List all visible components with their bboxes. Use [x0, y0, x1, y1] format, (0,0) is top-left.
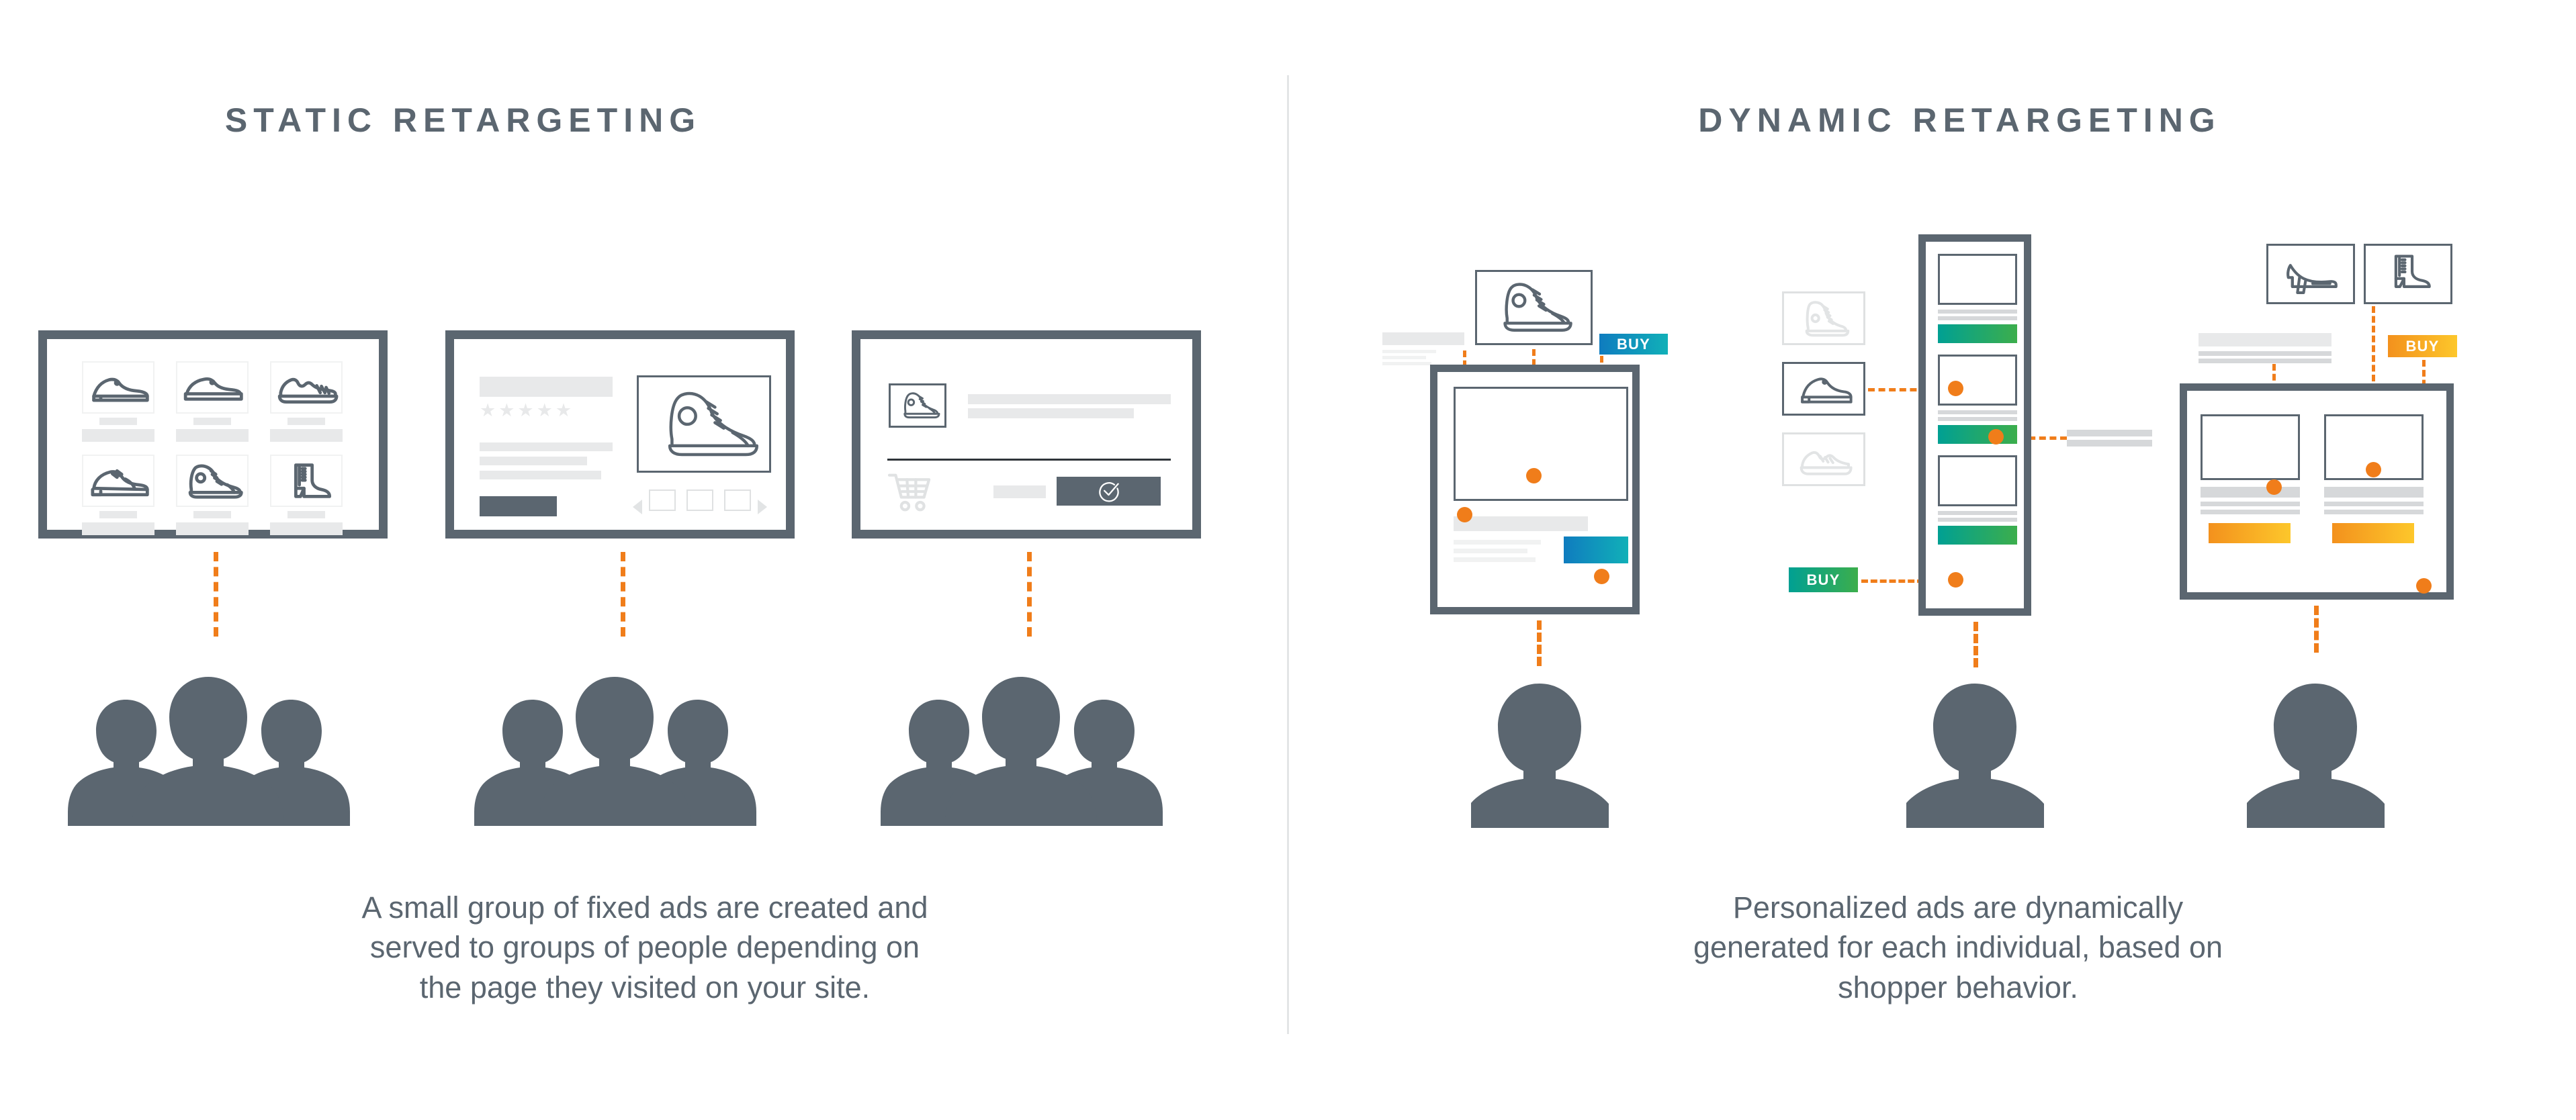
static-screen-category-listing[interactable]: [38, 330, 388, 539]
running-sneaker-icon: [1784, 434, 1863, 484]
checkout-button[interactable]: [1057, 477, 1161, 506]
carousel-next-button[interactable]: [758, 500, 767, 514]
dyn1-dot-copy: [1457, 507, 1472, 522]
dyn2-component-buy-button[interactable]: BUY: [1789, 567, 1858, 592]
ad-card-line: [2324, 510, 2424, 514]
ankle-boot-heel-icon: [2366, 246, 2450, 302]
dyn1-component-copy-block: [1382, 332, 1476, 365]
dyn3-component-image-2[interactable]: [2364, 244, 2452, 304]
product-card[interactable]: [176, 361, 249, 442]
infographic-canvas: STATIC RETARGETING DYNAMIC RETARGETING: [0, 0, 2576, 1120]
panel-divider: [1287, 75, 1289, 1034]
audience-group-1: [64, 671, 353, 826]
product-thumbnail: [176, 361, 249, 414]
carousel-prev-button[interactable]: [633, 500, 642, 514]
product-thumbnail: [82, 361, 154, 414]
lace-up-boot-icon: [1784, 293, 1863, 343]
product-price-placeholder: [270, 522, 343, 535]
ad-card-buy-slot[interactable]: [2332, 523, 2414, 543]
high-top-sneaker-icon: [177, 456, 247, 506]
ad-card-image-slot: [1938, 455, 2017, 506]
dyn2-component-image-inactive-2[interactable]: [1782, 432, 1865, 486]
product-title-placeholder: [480, 377, 613, 397]
ad-card-line: [2201, 510, 2300, 514]
ad-card-buy-slot[interactable]: [1938, 526, 2017, 545]
caption-line: the page they visited on your site.: [148, 968, 1142, 1007]
ad-card-buy-slot[interactable]: [1938, 425, 2017, 444]
buy-label: BUY: [2388, 335, 2457, 357]
cart-separator: [887, 459, 1171, 461]
copy-body-line: [1382, 356, 1426, 359]
three-people-group-icon: [64, 671, 353, 826]
dyn2-shopper: [1906, 677, 2044, 828]
product-name-placeholder: [287, 418, 325, 425]
buy-label: BUY: [1599, 334, 1668, 355]
ad-card-headline-slot: [2201, 487, 2300, 498]
ad-buy-slot[interactable]: [1564, 536, 1628, 563]
ad-headline-slot: [1454, 516, 1588, 531]
cart-line-item-thumbnail: [889, 383, 946, 428]
dyn2-connector-to-shopper: [1973, 622, 1978, 667]
ad-card-line: [2201, 502, 2300, 506]
copy-body-line: [1382, 362, 1431, 365]
dyn3-dot-image: [2366, 462, 2381, 477]
dyn3-dot-buy: [2416, 578, 2432, 594]
product-price-placeholder: [176, 429, 249, 442]
dyn1-component-product-image[interactable]: [1475, 270, 1593, 345]
single-person-icon: [2247, 677, 2385, 828]
dyn3-dot-copy: [2266, 479, 2282, 495]
dyn2-connector-buy: [1861, 579, 1924, 583]
loafer-shoe-icon: [177, 363, 247, 412]
cart-item-name-placeholder: [968, 394, 1171, 404]
carousel-thumb[interactable]: [649, 489, 676, 511]
ad-image-slot: [1454, 387, 1628, 501]
high-top-sneaker-icon: [1477, 272, 1591, 343]
product-price-placeholder: [176, 522, 249, 535]
product-thumbnail: [176, 455, 249, 507]
running-sneaker-icon: [271, 363, 341, 412]
ad-body-line: [1454, 549, 1527, 553]
ad-card-image-slot: [1938, 355, 2017, 406]
dress-shoe-icon: [83, 363, 153, 412]
shopping-cart-icon: [887, 472, 932, 512]
dynamic-panel-caption: Personalized ads are dynamically generat…: [1558, 888, 2358, 1007]
browser-viewport: [47, 339, 379, 530]
static-screen-shopping-cart[interactable]: [852, 330, 1201, 539]
dyn1-dot-buy: [1594, 569, 1609, 584]
buy-label: BUY: [1789, 567, 1858, 592]
dyn1-shopper: [1471, 677, 1609, 828]
ad-card-line: [1938, 511, 2017, 515]
ad-card-buy-slot[interactable]: [1938, 324, 2017, 343]
high-heel-pump-icon: [2268, 246, 2353, 302]
dyn1-component-buy-button[interactable]: BUY: [1599, 334, 1668, 355]
connector-screen-3-to-audience-3: [1027, 552, 1032, 637]
single-person-icon: [1471, 677, 1609, 828]
dynamic-panel-title: DYNAMIC RETARGETING: [1579, 101, 2341, 140]
ad-card-image-slot: [1938, 254, 2017, 305]
product-name-placeholder: [99, 418, 137, 425]
cart-item-detail-placeholder: [968, 408, 1134, 418]
audience-group-2: [470, 671, 759, 826]
ad-body-line: [1454, 557, 1536, 562]
ad-viewport: [1926, 242, 2024, 608]
check-circle-icon: [1098, 480, 1120, 503]
caption-line: Personalized ads are dynamically: [1558, 888, 2358, 927]
three-people-group-icon: [877, 671, 1165, 826]
product-card[interactable]: [82, 455, 154, 535]
ad-card-line: [1938, 410, 2017, 414]
ad-card-line: [2324, 502, 2424, 506]
product-name-placeholder: [193, 511, 231, 518]
dyn3-ad-frame[interactable]: [2180, 383, 2454, 600]
ad-viewport: [2187, 391, 2446, 592]
dyn3-component-buy-button[interactable]: BUY: [2388, 335, 2457, 357]
dyn1-dot-image: [1526, 468, 1542, 483]
dyn2-ad-frame[interactable]: [1918, 234, 2031, 616]
browser-viewport: [860, 339, 1192, 530]
dyn3-component-copy-block: [2199, 333, 2340, 360]
high-top-sneaker-icon: [639, 377, 769, 471]
product-thumbnail: [270, 361, 343, 414]
dyn2-dot-buy: [1948, 572, 1963, 588]
description-line: [480, 442, 613, 451]
ad-card-line: [1938, 316, 2017, 320]
product-price-placeholder: [82, 522, 154, 535]
description-line: [480, 471, 601, 479]
ad-card-line: [1938, 417, 2017, 421]
dyn2-component-image-active[interactable]: [1782, 362, 1865, 416]
dress-shoe-icon: [1784, 364, 1863, 414]
dyn2-component-copy-block: [2067, 430, 2154, 447]
dyn3-component-image-1[interactable]: [2266, 244, 2355, 304]
three-people-group-icon: [470, 671, 759, 826]
single-person-icon: [1906, 677, 2044, 828]
caption-line: served to groups of people depending on: [148, 927, 1142, 967]
product-name-placeholder: [99, 511, 137, 518]
product-price-placeholder: [270, 429, 343, 442]
ad-card-image-slot: [2201, 414, 2300, 480]
dyn3-connector-to-shopper: [2314, 606, 2319, 653]
product-hero-image[interactable]: [637, 375, 771, 473]
connector-screen-2-to-audience-2: [621, 552, 625, 637]
copy-headline-placeholder: [1382, 332, 1464, 345]
dyn1-connector-to-shopper: [1537, 620, 1542, 666]
product-card[interactable]: [270, 455, 343, 535]
dyn2-component-image-inactive-1[interactable]: [1782, 291, 1865, 345]
description-line: [480, 457, 587, 465]
product-thumbnail: [82, 455, 154, 507]
ankle-boot-heel-icon: [271, 456, 341, 506]
caption-line: generated for each individual, based on: [1558, 927, 2358, 967]
connector-screen-1-to-audience-1: [214, 552, 218, 637]
static-panel-title: STATIC RETARGETING: [82, 101, 844, 140]
oxford-shoe-icon: [83, 456, 153, 506]
dyn2-dot-copy: [1988, 429, 2004, 445]
dyn3-shopper: [2247, 677, 2385, 828]
product-card[interactable]: [176, 455, 249, 535]
high-top-sneaker-icon: [891, 385, 944, 426]
carousel-thumb[interactable]: [724, 489, 751, 511]
copy-line: [2067, 440, 2152, 447]
rating-stars: ★★★★★: [480, 402, 574, 420]
cart-total-placeholder: [993, 485, 1046, 498]
dyn2-dot-image: [1948, 381, 1963, 396]
ad-card-buy-slot[interactable]: [2209, 523, 2291, 543]
product-card[interactable]: [270, 361, 343, 442]
caption-line: shopper behavior.: [1558, 968, 2358, 1007]
product-name-placeholder: [193, 418, 231, 425]
carousel-thumb[interactable]: [686, 489, 713, 511]
copy-body-line: [2199, 351, 2331, 356]
copy-headline-placeholder: [2199, 333, 2331, 346]
product-price-placeholder: [82, 429, 154, 442]
product-name-placeholder: [287, 511, 325, 518]
ad-body-line: [1454, 540, 1541, 545]
caption-line: A small group of fixed ads are created a…: [148, 888, 1142, 927]
audience-group-3: [877, 671, 1165, 826]
product-card[interactable]: [82, 361, 154, 442]
copy-body-line: [1382, 350, 1436, 353]
ad-card-line: [1938, 518, 2017, 522]
static-screen-product-detail[interactable]: ★★★★★: [445, 330, 795, 539]
add-to-cart-button[interactable]: [480, 496, 557, 516]
copy-body-line: [2199, 359, 2331, 363]
static-panel-caption: A small group of fixed ads are created a…: [148, 888, 1142, 1007]
copy-line: [2067, 430, 2152, 436]
ad-card-line: [1938, 310, 2017, 314]
ad-card-headline-slot: [2324, 487, 2424, 498]
product-thumbnail: [270, 455, 343, 507]
browser-viewport: ★★★★★: [454, 339, 786, 530]
